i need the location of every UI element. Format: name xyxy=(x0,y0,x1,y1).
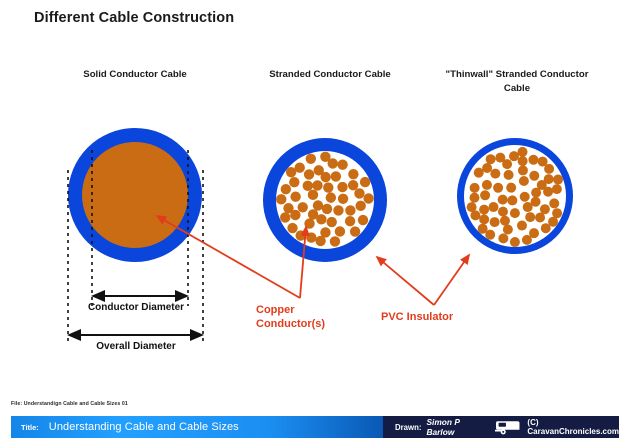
footer-drawn-value: Simon P Barlow xyxy=(426,417,480,437)
dimension-label-conductor-diameter: Conductor Diameter xyxy=(60,302,212,313)
pvc-insulator-leader-lines xyxy=(377,255,469,305)
dimension-label-overall-diameter: Overall Diameter xyxy=(55,341,217,352)
file-caption: File: Understandign Cable and Cable Size… xyxy=(11,401,128,407)
cable-diagram-canvas xyxy=(0,0,630,445)
annotation-label-copper-conductors: Copper Conductor(s) xyxy=(256,303,366,331)
cable-cross-section-solid xyxy=(68,128,202,262)
footer-title-value: Understanding Cable and Cable Sizes xyxy=(49,421,239,433)
footer-copyright: (C) CaravanChronicles.com xyxy=(527,418,619,436)
footer-drawn-key: Drawn: xyxy=(395,423,421,432)
footer-title-key: Title: xyxy=(21,423,39,432)
cable-cross-section-stranded xyxy=(263,138,387,262)
annotation-label-pvc-insulator: PVC Insulator xyxy=(381,310,491,324)
diagram-page: Different Cable Construction Solid Condu… xyxy=(0,0,630,445)
footer-title-block: Title: Understanding Cable and Cable Siz… xyxy=(11,416,619,438)
copper-label-line2: Conductor(s) xyxy=(256,317,366,331)
caravan-icon xyxy=(495,419,521,436)
copper-label-line1: Copper xyxy=(256,303,366,317)
footer-title-section: Title: Understanding Cable and Cable Siz… xyxy=(11,416,383,438)
cable-cross-section-thinwall xyxy=(457,138,573,254)
footer-credit-section: Drawn: Simon P Barlow (C) CaravanChronic… xyxy=(383,416,619,438)
